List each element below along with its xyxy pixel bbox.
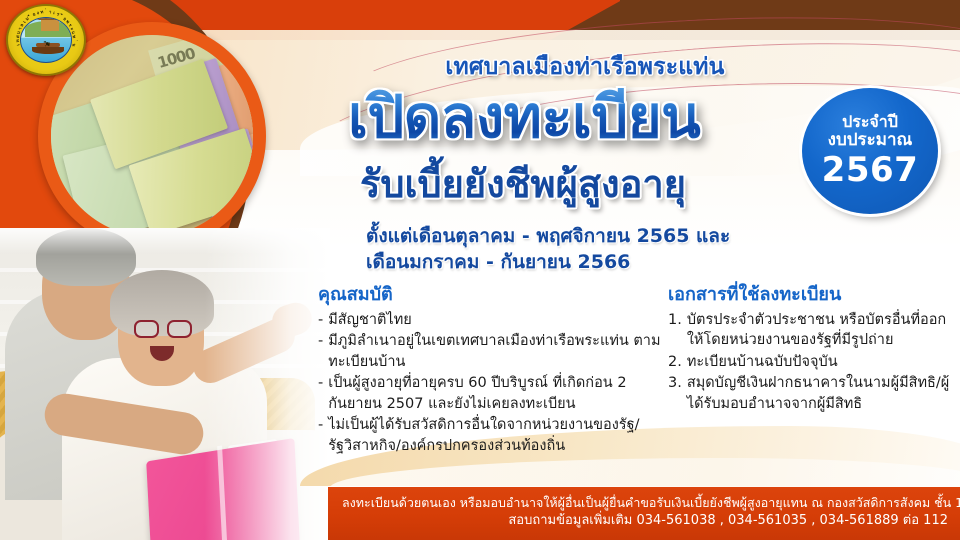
seal-ring-text: เทศบาลเมืองท่าเรือพระแท่นจังหวัดกาญจนบุร… (8, 6, 84, 74)
list-item-text: ทะเบียนบ้านฉบับปัจจุบัน (687, 352, 954, 373)
list-item-marker: - (318, 373, 323, 414)
qualifications-title: คุณสมบัติ (318, 284, 663, 306)
list-item: 2.ทะเบียนบ้านฉบับปัจจุบัน (668, 352, 954, 373)
documents-list: 1.บัตรประจำตัวประชาชน หรือบัตรอื่นที่ออก… (668, 310, 954, 415)
list-item-text: ไม่เป็นผู้ได้รับสวัสดิการอื่นใดจากหน่วยง… (328, 415, 663, 456)
list-item-marker: - (318, 415, 323, 456)
list-item-marker: 1. (668, 310, 682, 351)
list-item-text: เป็นผู้สูงอายุที่อายุครบ 60 ปีบริบูรณ์ ท… (328, 373, 663, 414)
list-item-marker: 2. (668, 352, 682, 373)
subheadline-title: รับเบี้ยยังชีพผู้สูงอายุ (360, 165, 686, 203)
fiscal-year-badge: ประจำปี งบประมาณ 2567 (802, 88, 938, 214)
list-item: -มีภูมิลำเนาอยู่ในเขตเทศบาลเมืองท่าเรือพ… (318, 331, 663, 372)
list-item: 1.บัตรประจำตัวประชาชน หรือบัตรอื่นที่ออก… (668, 310, 954, 351)
list-item-text: บัตรประจำตัวประชาชน หรือบัตรอื่นที่ออกให… (687, 310, 954, 351)
list-item: -มีสัญชาติไทย (318, 310, 663, 331)
headline-title: เปิดลงทะเบียน (348, 88, 808, 146)
badge-year: 2567 (822, 151, 919, 189)
photo-right-fade (0, 228, 330, 540)
registration-dates: ตั้งแต่เดือนตุลาคม - พฤศจิกายน 2565 และ … (366, 224, 796, 275)
badge-line-2: งบประมาณ (828, 131, 913, 150)
qualifications-list: -มีสัญชาติไทย-มีภูมิลำเนาอยู่ในเขตเทศบาล… (318, 310, 663, 457)
list-item-text: มีภูมิลำเนาอยู่ในเขตเทศบาลเมืองท่าเรือพร… (328, 331, 663, 372)
documents-section: เอกสารที่ใช้ลงทะเบียน 1.บัตรประจำตัวประช… (668, 284, 954, 415)
footer-line-2: สอบถามข้อมูลเพิ่มเติม 034-561038 , 034-5… (342, 512, 948, 531)
poster-canvas: 1000 1000 1000 1000 1000 100 เทศบาลเมือง… (0, 0, 960, 540)
list-item: -ไม่เป็นผู้ได้รับสวัสดิการอื่นใดจากหน่วย… (318, 415, 663, 456)
municipal-seal-icon: เทศบาลเมืองท่าเรือพระแท่นจังหวัดกาญจนบุร… (6, 4, 86, 76)
badge-line-1: ประจำปี (842, 113, 898, 131)
list-item-marker: - (318, 331, 323, 372)
list-item-text: มีสัญชาติไทย (328, 310, 663, 331)
qualifications-section: คุณสมบัติ -มีสัญชาติไทย-มีภูมิลำเนาอยู่ใ… (318, 284, 663, 458)
footer-line-1: ลงทะเบียนด้วยตนเอง หรือมอบอำนาจให้ผู้อื่… (342, 494, 948, 512)
date-line-2: เดือนมกราคม - กันยายน 2566 (366, 250, 796, 276)
elderly-couple-photo (0, 228, 330, 540)
date-line-1: ตั้งแต่เดือนตุลาคม - พฤศจิกายน 2565 และ (366, 224, 796, 250)
organization-name: เทศบาลเมืองท่าเรือพระแท่น (390, 56, 780, 79)
list-item: -เป็นผู้สูงอายุที่อายุครบ 60 ปีบริบูรณ์ … (318, 373, 663, 414)
list-item-marker: - (318, 310, 323, 331)
list-item-marker: 3. (668, 373, 682, 414)
list-item: 3.สมุดบัญชีเงินฝากธนาคารในนามผู้มีสิทธิ/… (668, 373, 954, 414)
list-item-text: สมุดบัญชีเงินฝากธนาคารในนามผู้มีสิทธิ/ผู… (687, 373, 954, 414)
footer-contact-bar: ลงทะเบียนด้วยตนเอง หรือมอบอำนาจให้ผู้อื่… (328, 487, 960, 540)
documents-title: เอกสารที่ใช้ลงทะเบียน (668, 284, 954, 306)
